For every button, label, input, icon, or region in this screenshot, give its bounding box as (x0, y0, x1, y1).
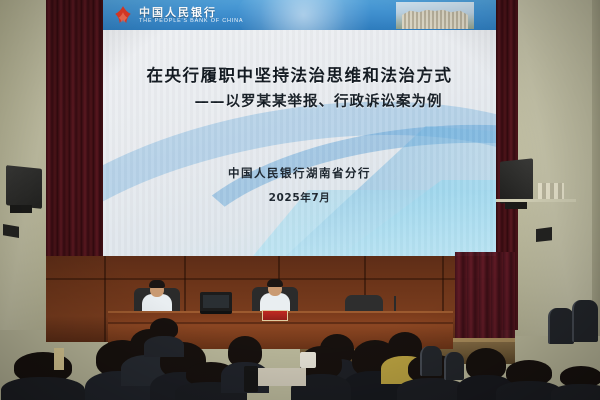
right-wall-edge (592, 0, 600, 336)
speaker-hair-left (149, 280, 165, 288)
right-wall-shelf (496, 199, 576, 202)
conference-hall-scene: 中国人民银行 THE PEOPLE'S BANK OF CHINA 在央行履职中… (0, 0, 600, 400)
pboc-headquarters-photo (396, 2, 474, 29)
pboc-logo-icon (112, 5, 134, 26)
wall-speaker-right (500, 158, 533, 203)
list-item (506, 360, 552, 400)
red-nameplate (262, 310, 288, 321)
desk-bottle (244, 366, 258, 392)
wall-sconce-right (538, 183, 564, 199)
audience-body (1, 377, 85, 400)
wall-sconce-right-lower (536, 227, 552, 242)
slide-date: 2025年7月 (103, 190, 496, 205)
slide-content-area: 在央行履职中坚持法治思维和法治方式 ——以罗某某举报、行政诉讼案为例 中国人民银… (103, 30, 496, 256)
side-chair (420, 346, 442, 376)
slide-header-band: 中国人民银行 THE PEOPLE'S BANK OF CHINA (103, 0, 496, 30)
audience-body (551, 384, 600, 400)
side-chair (548, 308, 574, 344)
side-chair (444, 352, 464, 380)
header-swirl-decoration-2 (243, 0, 363, 30)
desk-monitor (200, 292, 232, 314)
slide-title: 在央行履职中坚持法治思维和法治方式 (103, 62, 496, 86)
audience-body (144, 336, 184, 357)
slide-logo-english-text: THE PEOPLE'S BANK OF CHINA (139, 18, 243, 24)
desk-paper-left (54, 348, 64, 370)
desk-cup (300, 352, 316, 368)
wall-speaker-left (6, 165, 42, 209)
audience-body (397, 378, 466, 400)
slide-organization: 中国人民银行湖南省分行 (103, 165, 496, 181)
speaker-hair-right (267, 279, 283, 287)
wall-speaker-left-bracket (10, 205, 32, 213)
stage-right-curtain (455, 252, 515, 348)
slide-subtitle: ——以罗某某举报、行政诉讼案为例 (103, 90, 496, 111)
list-item (560, 366, 600, 400)
seated-speaker-left (140, 280, 174, 314)
desk-document (258, 368, 306, 386)
list-item (150, 318, 178, 352)
projection-screen: 中国人民银行 THE PEOPLE'S BANK OF CHINA 在央行履职中… (103, 0, 496, 256)
side-chair (572, 300, 598, 342)
seated-speaker-right (258, 279, 292, 313)
